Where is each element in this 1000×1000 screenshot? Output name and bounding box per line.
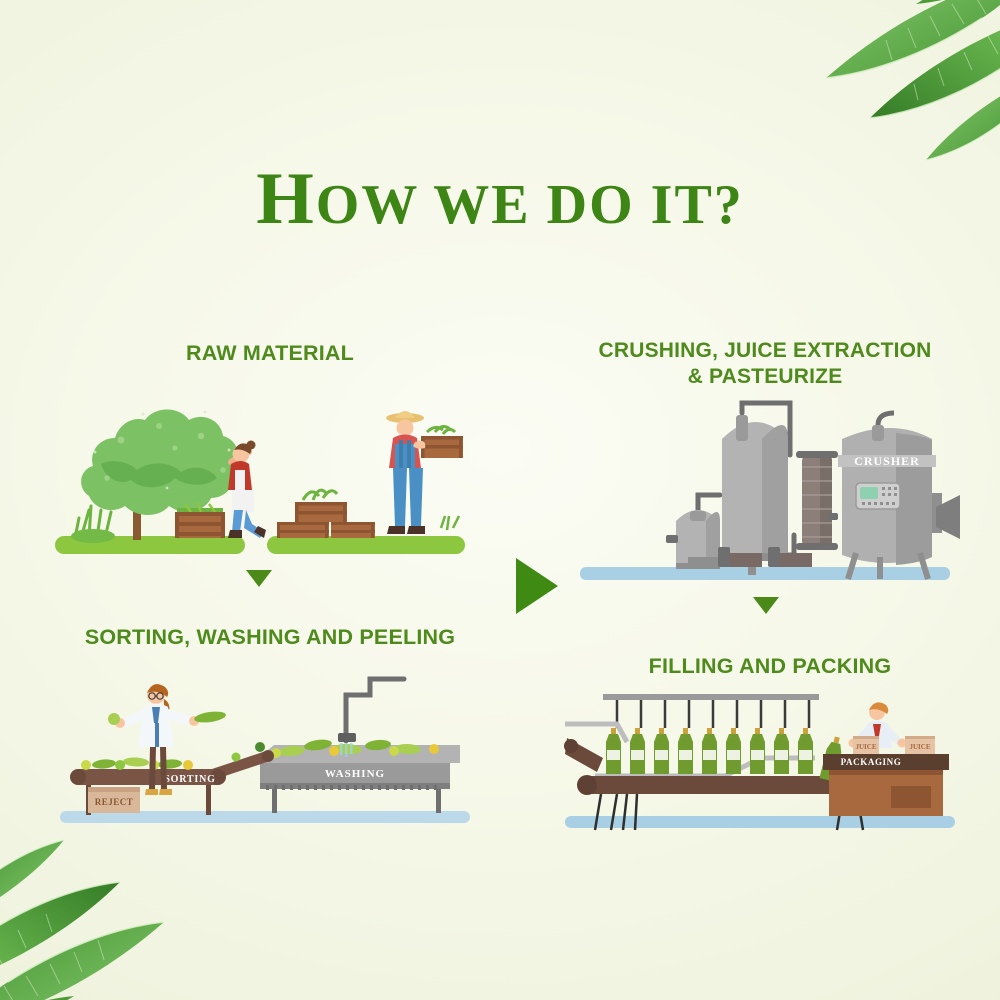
illustration-sorting-washing: WASHING — [60, 665, 470, 830]
incline-conveyor — [564, 738, 603, 772]
section-heading-raw-material: RAW MATERIAL — [60, 340, 480, 366]
heat-exchanger — [796, 451, 838, 550]
crate-stack — [277, 490, 375, 538]
worker-farmer — [386, 411, 463, 534]
juice-box-1-label: JUICE — [855, 743, 876, 751]
section-heading-crushing: CRUSHING, JUICE EXTRACTION & PASTEURIZE — [565, 338, 965, 389]
washing-unit-label: WASHING — [325, 768, 385, 780]
page-title-rest: OW WE DO IT? — [316, 174, 744, 236]
section-heading-crushing-line2: & PASTEURIZE — [565, 364, 965, 390]
section-heading-filling: FILLING AND PACKING — [600, 653, 940, 679]
shrub — [71, 506, 115, 543]
poster-root: HOW WE DO IT? RAW MATERIAL CRUSHING, JUI… — [0, 0, 1000, 1000]
washing-machine: WASHING — [260, 679, 460, 813]
reject-box-label: REJECT — [95, 797, 134, 807]
juice-box-1: JUICE — [853, 736, 879, 754]
arrow-down-crushing-to-filling — [753, 597, 779, 614]
illustration-crushing-pasteurize: CRUSHER — [580, 395, 950, 585]
juice-box-2: JUICE — [905, 736, 935, 754]
arrow-right-left-to-right — [516, 558, 558, 614]
grass-tufts — [441, 516, 459, 530]
crusher-label: CRUSHER — [854, 454, 920, 468]
illustration-filling-packing: JUICE JUICE PACKAGING — [565, 680, 955, 830]
arrow-down-raw-to-sorting — [246, 570, 272, 587]
worker-picking-fruit — [228, 441, 266, 539]
page-title: HOW WE DO IT? — [0, 162, 1000, 236]
crusher-control-panel — [856, 483, 900, 509]
reject-box: REJECT — [88, 787, 140, 813]
water-pipe — [346, 679, 404, 741]
section-heading-sorting: SORTING, WASHING AND PEELING — [40, 624, 500, 650]
packaging-counter-label: PACKAGING — [841, 757, 902, 767]
crusher-machine: CRUSHER — [838, 413, 960, 579]
sorting-belt-label: SORTING — [164, 774, 215, 785]
page-title-cap: H — [256, 158, 316, 240]
illustration-raw-material — [55, 378, 465, 558]
juice-box-2-label: JUICE — [909, 743, 930, 751]
packaging-station: JUICE JUICE PACKAGING — [823, 702, 949, 816]
section-heading-crushing-line1: CRUSHING, JUICE EXTRACTION — [565, 338, 965, 364]
leaf-decoration-bottom-left — [0, 810, 260, 1000]
filling-nozzles — [603, 694, 819, 728]
